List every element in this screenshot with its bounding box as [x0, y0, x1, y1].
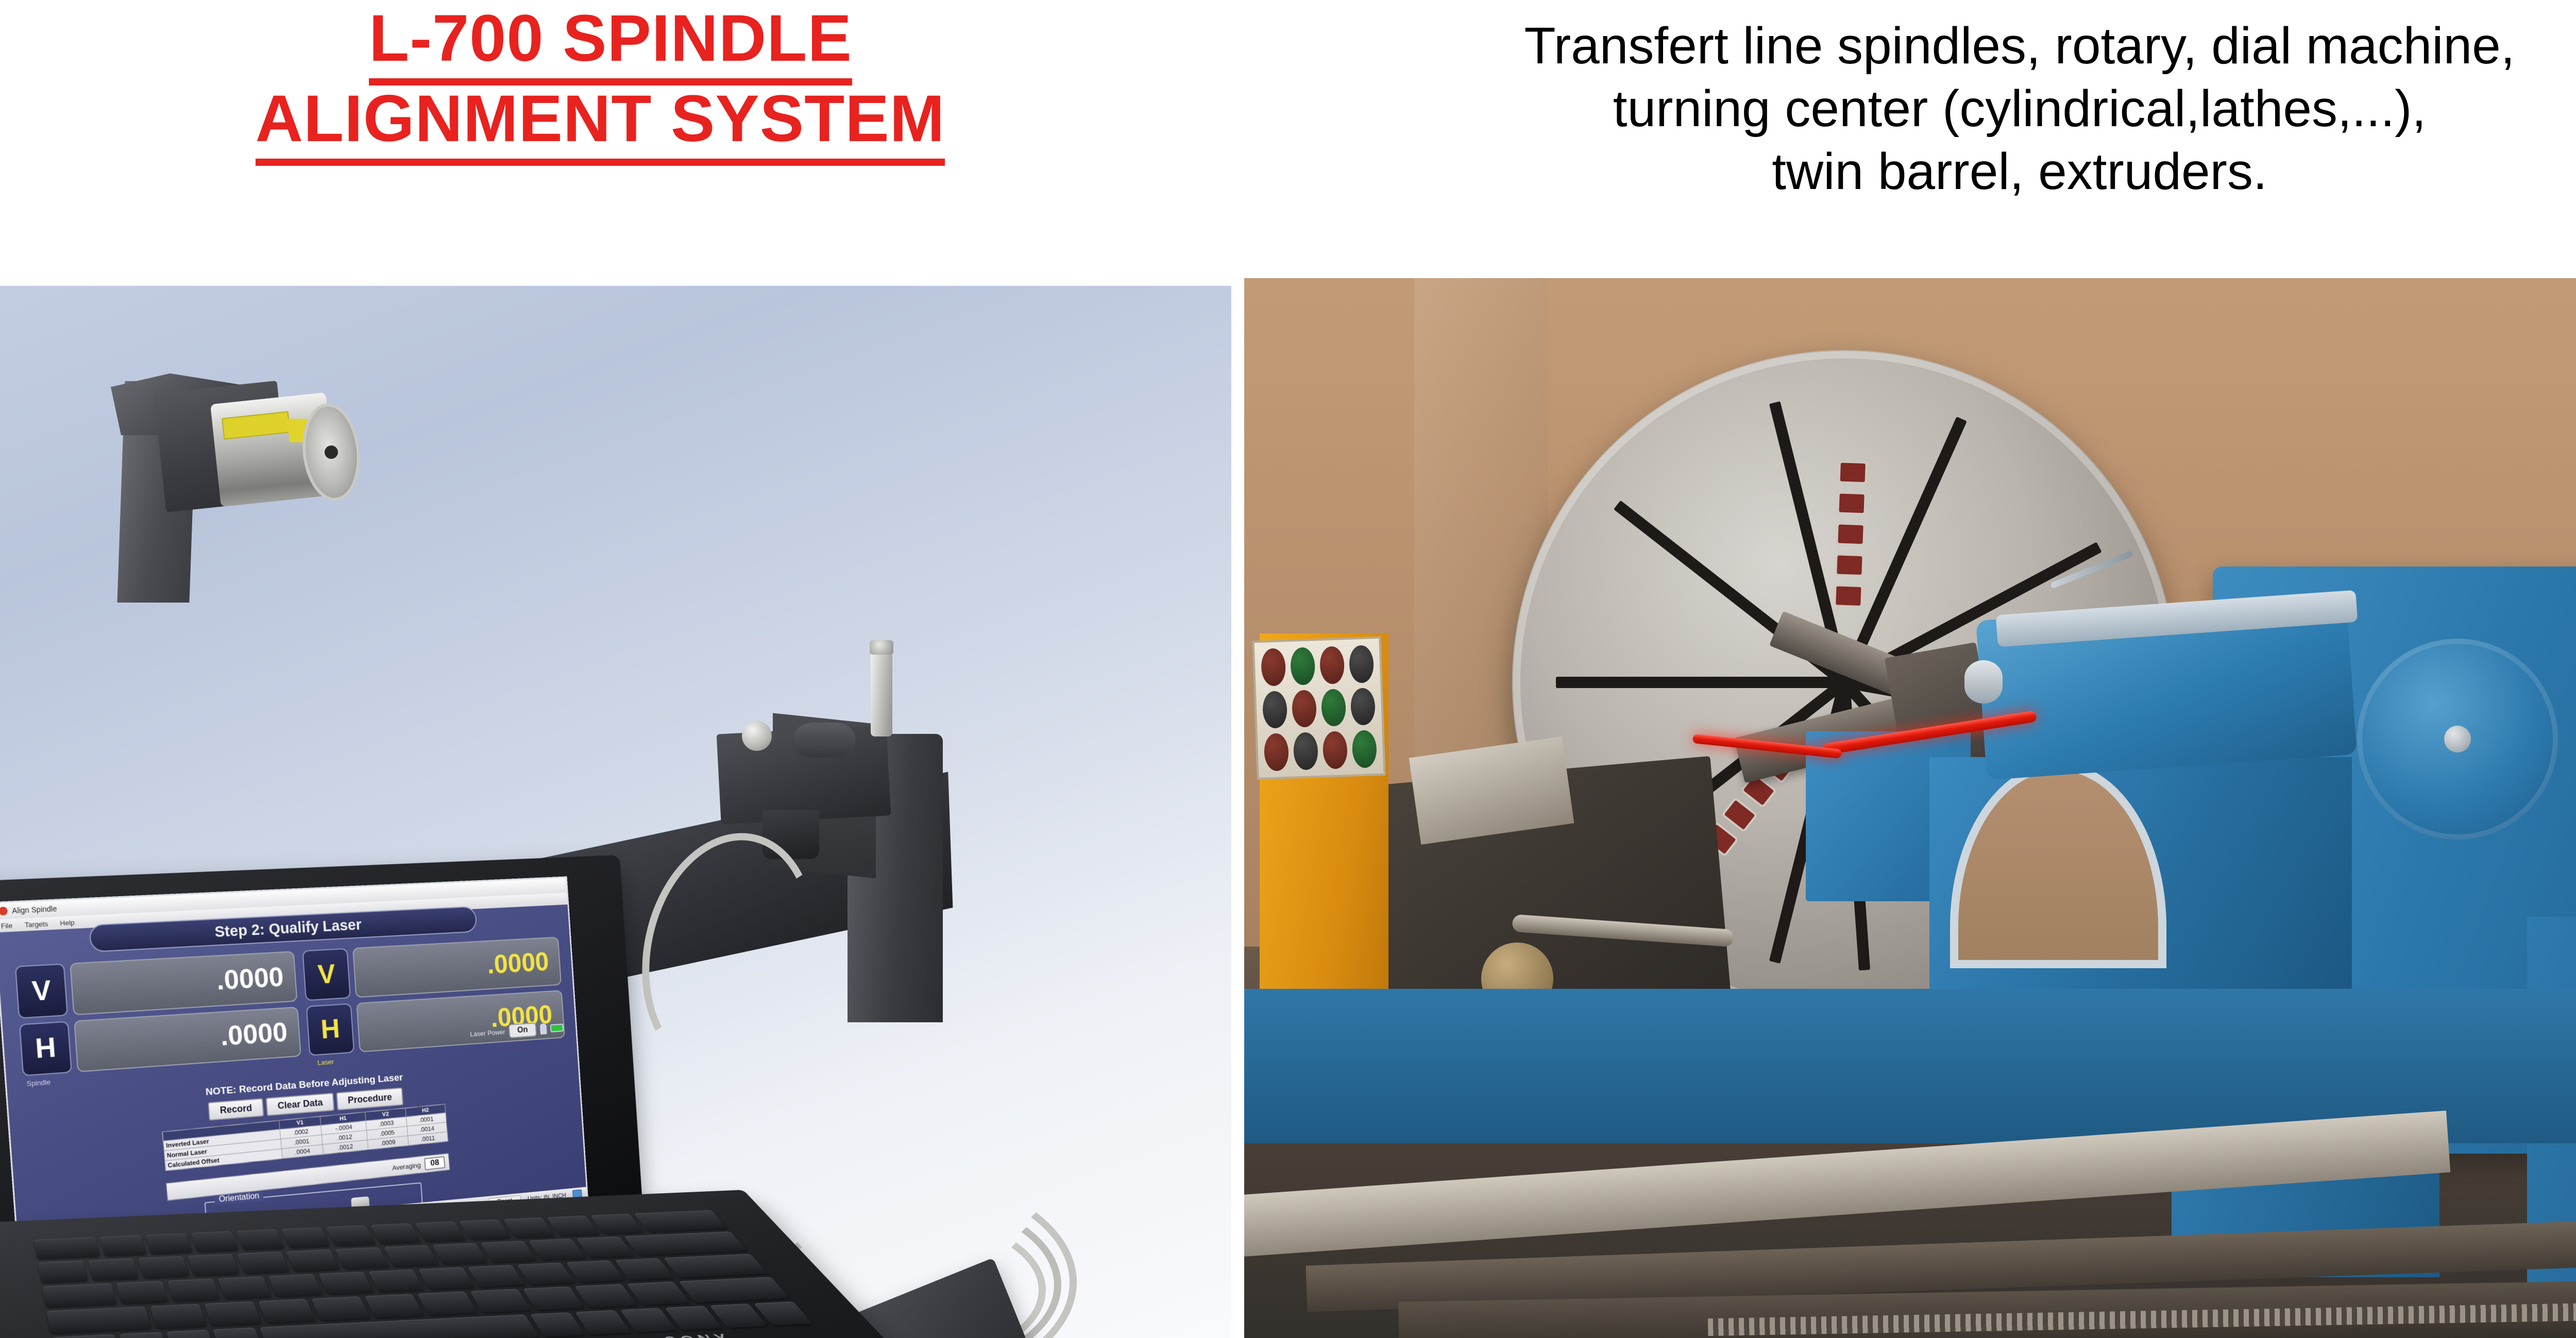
key[interactable] [459, 1220, 511, 1240]
panel-button[interactable] [1352, 730, 1378, 768]
readout-grid: V .0000 V .0000 H .0000 H [15, 937, 565, 1076]
handwheel-hub [2444, 726, 2471, 752]
group-label-laser: Laser [317, 1058, 334, 1067]
subtitle-line-2: turning center (cylindrical,lathes,...), [1247, 77, 2576, 140]
readout-laser-v: V .0000 [302, 937, 562, 1001]
key-h[interactable] [417, 1292, 478, 1316]
subtitle-line-1: Transfert line spindles, rotary, dial ma… [1247, 14, 2576, 77]
product-title-block: L-700 SPINDLE ALIGNMENT SYSTEM [0, 5, 1200, 166]
key[interactable] [100, 1235, 147, 1256]
panel-button[interactable] [1293, 732, 1319, 770]
key-s[interactable] [204, 1301, 261, 1326]
key[interactable] [626, 1282, 690, 1306]
tailstock-quill-nose [1964, 660, 2003, 704]
handwheel-disc [2357, 639, 2558, 839]
key-enter[interactable] [663, 1254, 769, 1278]
key[interactable] [188, 1254, 240, 1276]
key-capslock[interactable] [47, 1307, 151, 1334]
poster-page: L-700 SPINDLE ALIGNMENT SYSTEM Transfert… [0, 0, 2576, 1338]
key-l[interactable] [574, 1284, 637, 1308]
product-title-line-2: ALIGNMENT SYSTEM [0, 85, 1200, 166]
key-r[interactable] [268, 1274, 323, 1297]
alignment-software-screen[interactable]: Align Spindle File Targets Help Step 2: … [0, 876, 588, 1257]
panel-button[interactable] [1350, 688, 1376, 726]
key-t[interactable] [318, 1272, 374, 1295]
readout-axis-label-v-laser: V [302, 948, 350, 1001]
key-windows[interactable] [166, 1330, 216, 1338]
key-i[interactable] [467, 1265, 525, 1288]
notebook-computer: SONY Align Spindle File Targets Help Ste… [0, 868, 757, 1338]
key-shift-right[interactable] [678, 1277, 790, 1303]
key-k[interactable] [522, 1286, 585, 1310]
readout-value-v-laser: .0000 [352, 937, 562, 998]
clear-data-button[interactable]: Clear Data [266, 1093, 334, 1116]
key-backspace[interactable] [623, 1231, 748, 1256]
faceplate-slot [1556, 677, 1844, 688]
laser-power-label: Laser Power [470, 1028, 505, 1038]
key[interactable] [38, 1260, 88, 1283]
receiver-cylinder [793, 723, 855, 758]
laser-aperture-icon [324, 445, 339, 460]
lamp-icon [540, 1023, 547, 1035]
readout-axis-label-h-laser: H [306, 1003, 354, 1056]
procedure-button[interactable]: Procedure [336, 1088, 403, 1111]
key[interactable] [34, 1237, 100, 1259]
window-title: Align Spindle [12, 904, 57, 915]
panel-button[interactable] [1261, 648, 1286, 686]
key[interactable] [415, 1221, 466, 1242]
key[interactable] [326, 1225, 376, 1246]
application-subtitle-block: Transfert line spindles, rotary, dial ma… [1247, 14, 2576, 203]
readout-spindle-h: H .0000 [19, 1006, 301, 1076]
laptop-keyboard[interactable] [34, 1210, 813, 1338]
key-g[interactable] [364, 1294, 424, 1318]
key-fn[interactable] [120, 1332, 168, 1338]
key[interactable] [146, 1233, 193, 1254]
panel-button[interactable] [1290, 647, 1316, 685]
panel-button[interactable] [1321, 689, 1347, 727]
readout-spindle-v: V .0000 [15, 951, 298, 1019]
key[interactable] [503, 1217, 555, 1238]
readout-axis-label-v-spindle: V [15, 964, 68, 1019]
menu-item-help[interactable]: Help [60, 918, 75, 927]
key-u[interactable] [418, 1267, 475, 1290]
machine-installation-photo [1244, 278, 2576, 1338]
panel-button[interactable] [1292, 690, 1317, 728]
key-tab[interactable] [42, 1283, 117, 1308]
key[interactable] [286, 1249, 340, 1272]
palmrest-brand: SONY [662, 1331, 737, 1338]
laser-power-button[interactable]: On [509, 1022, 537, 1038]
key-ctrl[interactable] [52, 1334, 120, 1338]
key-o[interactable] [517, 1262, 575, 1285]
key[interactable] [634, 1210, 728, 1232]
key[interactable] [88, 1258, 139, 1281]
micrometer-thimble [870, 640, 893, 655]
key-e[interactable] [218, 1276, 272, 1299]
receiver-adjust-knob [742, 721, 772, 751]
averaging-label: Averaging [392, 1161, 421, 1172]
key-q[interactable] [116, 1281, 168, 1305]
record-button[interactable]: Record [208, 1098, 264, 1121]
key[interactable] [335, 1247, 389, 1270]
readout-value-h-spindle: .0000 [74, 1006, 301, 1072]
key-d[interactable] [258, 1299, 316, 1324]
step-banner-text: Step 2: Qualify Laser [214, 916, 362, 940]
app-icon [0, 906, 8, 916]
subtitle-line-3: twin barrel, extruders. [1247, 140, 2576, 203]
averaging-value[interactable]: 08 [424, 1156, 445, 1171]
panel-button[interactable] [1349, 645, 1375, 683]
key[interactable] [480, 1241, 537, 1262]
header-band: L-700 SPINDLE ALIGNMENT SYSTEM Transfert… [0, 0, 2576, 278]
readout-axis-label-h-spindle: H [19, 1021, 72, 1076]
readout-value-h-laser: .0000 [356, 990, 565, 1053]
key-j[interactable] [470, 1289, 531, 1313]
key[interactable] [236, 1251, 290, 1274]
panel-button[interactable] [1319, 646, 1345, 684]
key[interactable] [547, 1215, 600, 1236]
panel-button[interactable] [1323, 731, 1348, 769]
group-label-spindle: Spindle [26, 1078, 50, 1088]
menu-item-targets[interactable]: Targets [24, 919, 48, 929]
product-kit-photo: SONY Align Spindle File Targets Help Ste… [0, 286, 1231, 1338]
panel-button[interactable] [1264, 733, 1290, 771]
key-f[interactable] [311, 1296, 370, 1320]
key[interactable] [383, 1245, 438, 1266]
key-y[interactable] [368, 1269, 425, 1292]
key-a[interactable] [150, 1304, 207, 1329]
micrometer-adjuster [871, 646, 892, 736]
machine-control-panel [1252, 637, 1385, 780]
status-indicator-icon [550, 1024, 564, 1033]
key[interactable] [138, 1256, 190, 1278]
key-alt[interactable] [213, 1328, 263, 1338]
product-title-line-1: L-700 SPINDLE [0, 5, 1200, 85]
photo-row: SONY Align Spindle File Targets Help Ste… [0, 278, 2576, 1338]
readout-value-v-spindle: .0000 [70, 951, 297, 1015]
key[interactable] [236, 1229, 284, 1250]
key[interactable] [432, 1243, 488, 1264]
key[interactable] [281, 1227, 330, 1248]
key-p[interactable] [566, 1260, 625, 1283]
panel-button[interactable] [1262, 691, 1288, 729]
key[interactable] [370, 1223, 421, 1244]
key[interactable] [528, 1239, 586, 1260]
key-alt-right[interactable] [530, 1312, 585, 1337]
menu-item-file[interactable]: File [1, 921, 13, 930]
key-w[interactable] [167, 1278, 221, 1301]
key[interactable] [191, 1231, 239, 1252]
key[interactable] [576, 1237, 634, 1258]
